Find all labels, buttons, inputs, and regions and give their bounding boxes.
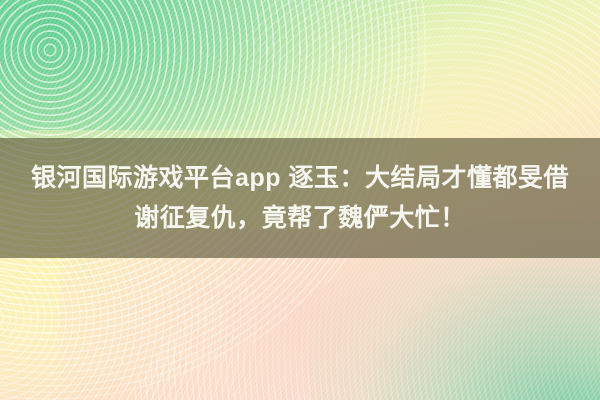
caption-line-1: 银河国际游戏平台app 逐玉：大结局才懂都旻借 xyxy=(31,158,569,198)
caption-line-2: 谢征复仇，竟帮了魏俨大忙！ xyxy=(134,198,466,238)
poster-canvas: 银河国际游戏平台app 逐玉：大结局才懂都旻借 谢征复仇，竟帮了魏俨大忙！ xyxy=(0,0,600,400)
caption-band: 银河国际游戏平台app 逐玉：大结局才懂都旻借 谢征复仇，竟帮了魏俨大忙！ xyxy=(0,138,600,258)
